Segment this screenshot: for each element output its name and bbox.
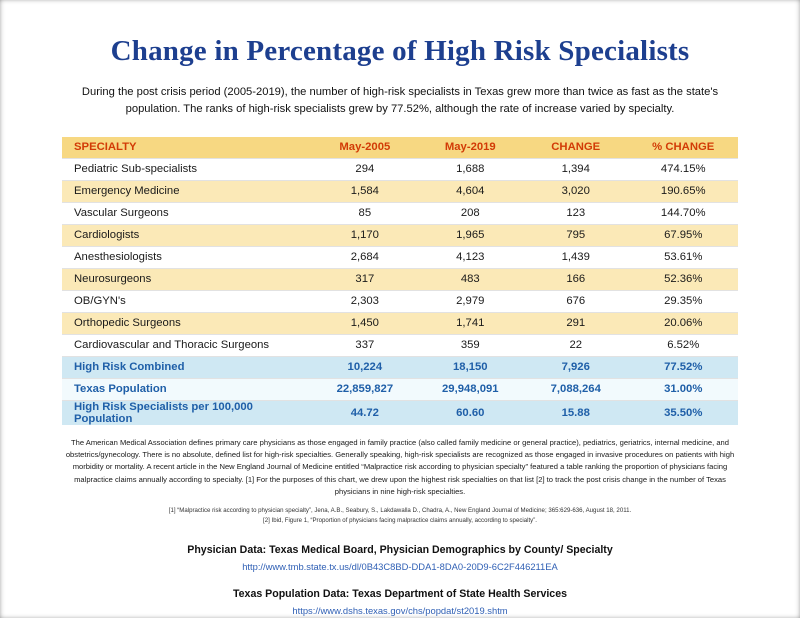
data-table-container: SPECIALTY May-2005 May-2019 CHANGE % CHA…: [62, 137, 738, 425]
page-title: Change in Percentage of High Risk Specia…: [18, 0, 782, 68]
cell-may-2005: 2,303: [312, 290, 417, 312]
table-header: SPECIALTY May-2005 May-2019 CHANGE % CHA…: [62, 137, 738, 159]
cell-specialty: Cardiologists: [62, 224, 312, 246]
cell-change: 3,020: [523, 180, 628, 202]
cell-may-2005: 317: [312, 268, 417, 290]
table-summary-row: Texas Population 22,859,827 29,948,091 7…: [62, 378, 738, 400]
source-link[interactable]: http://www.tmb.state.tx.us/dl/0B43C8BD-D…: [62, 560, 738, 574]
table-row: Pediatric Sub-specialists 294 1,688 1,39…: [62, 158, 738, 180]
cell-specialty: High Risk Combined: [62, 356, 312, 378]
column-header-change: CHANGE: [523, 137, 628, 159]
cell-may-2005: 10,224: [312, 356, 417, 378]
cell-specialty: OB/GYN's: [62, 290, 312, 312]
table-row: Cardiologists 1,170 1,965 795 67.95%: [62, 224, 738, 246]
cell-pct-change: 67.95%: [628, 224, 738, 246]
column-header-pct-change: % CHANGE: [628, 137, 738, 159]
cell-change: 676: [523, 290, 628, 312]
cell-change: 22: [523, 334, 628, 356]
source-label: Texas Population Data: Texas Department …: [62, 587, 738, 603]
table-summary-row: High Risk Specialists per 100,000 Popula…: [62, 400, 738, 425]
cell-specialty: Emergency Medicine: [62, 180, 312, 202]
cell-pct-change: 53.61%: [628, 246, 738, 268]
specialists-table: SPECIALTY May-2005 May-2019 CHANGE % CHA…: [62, 137, 738, 425]
cell-pct-change: 20.06%: [628, 312, 738, 334]
cell-may-2005: 1,170: [312, 224, 417, 246]
cell-may-2019: 1,688: [418, 158, 523, 180]
source-physician-data: Physician Data: Texas Medical Board, Phy…: [62, 543, 738, 574]
citation-2: [2] Ibid, Figure 1, “Proportion of physi…: [62, 516, 738, 526]
cell-may-2005: 2,684: [312, 246, 417, 268]
cell-pct-change: 6.52%: [628, 334, 738, 356]
cell-pct-change: 52.36%: [628, 268, 738, 290]
cell-may-2019: 29,948,091: [418, 378, 523, 400]
column-header-specialty: SPECIALTY: [62, 137, 312, 159]
cell-specialty: Vascular Surgeons: [62, 202, 312, 224]
cell-may-2019: 1,965: [418, 224, 523, 246]
cell-may-2019: 4,604: [418, 180, 523, 202]
table-summary-row: High Risk Combined 10,224 18,150 7,926 7…: [62, 356, 738, 378]
cell-may-2019: 483: [418, 268, 523, 290]
sources-block: Physician Data: Texas Medical Board, Phy…: [62, 543, 738, 618]
cell-may-2019: 4,123: [418, 246, 523, 268]
cell-specialty: Neurosurgeons: [62, 268, 312, 290]
cell-may-2005: 294: [312, 158, 417, 180]
cell-pct-change: 29.35%: [628, 290, 738, 312]
column-header-may-2019: May-2019: [418, 137, 523, 159]
cell-change: 166: [523, 268, 628, 290]
table-row: Orthopedic Surgeons 1,450 1,741 291 20.0…: [62, 312, 738, 334]
cell-specialty: Cardiovascular and Thoracic Surgeons: [62, 334, 312, 356]
cell-may-2019: 18,150: [418, 356, 523, 378]
cell-specialty: Texas Population: [62, 378, 312, 400]
cell-change: 1,439: [523, 246, 628, 268]
cell-may-2005: 1,450: [312, 312, 417, 334]
cell-change: 291: [523, 312, 628, 334]
cell-pct-change: 77.52%: [628, 356, 738, 378]
cell-may-2019: 1,741: [418, 312, 523, 334]
cell-pct-change: 35.50%: [628, 400, 738, 425]
cell-change: 123: [523, 202, 628, 224]
cell-change: 1,394: [523, 158, 628, 180]
cell-may-2005: 44.72: [312, 400, 417, 425]
cell-change: 7,088,264: [523, 378, 628, 400]
table-row: Neurosurgeons 317 483 166 52.36%: [62, 268, 738, 290]
cell-specialty: Anesthesiologists: [62, 246, 312, 268]
table-row: Emergency Medicine 1,584 4,604 3,020 190…: [62, 180, 738, 202]
source-label: Physician Data: Texas Medical Board, Phy…: [62, 543, 738, 559]
table-row: Anesthesiologists 2,684 4,123 1,439 53.6…: [62, 246, 738, 268]
cell-change: 15.88: [523, 400, 628, 425]
cell-may-2005: 337: [312, 334, 417, 356]
page-subtitle: During the post crisis period (2005-2019…: [64, 84, 736, 119]
table-row: Vascular Surgeons 85 208 123 144.70%: [62, 202, 738, 224]
cell-may-2005: 1,584: [312, 180, 417, 202]
cell-pct-change: 474.15%: [628, 158, 738, 180]
cell-specialty: High Risk Specialists per 100,000 Popula…: [62, 400, 312, 425]
source-population-data: Texas Population Data: Texas Department …: [62, 587, 738, 618]
citations-block: [1] “Malpractice risk according to physi…: [62, 506, 738, 526]
cell-pct-change: 144.70%: [628, 202, 738, 224]
cell-may-2019: 2,979: [418, 290, 523, 312]
table-body: Pediatric Sub-specialists 294 1,688 1,39…: [62, 158, 738, 425]
cell-pct-change: 190.65%: [628, 180, 738, 202]
cell-may-2019: 359: [418, 334, 523, 356]
cell-may-2005: 85: [312, 202, 417, 224]
cell-may-2005: 22,859,827: [312, 378, 417, 400]
table-row: OB/GYN's 2,303 2,979 676 29.35%: [62, 290, 738, 312]
cell-may-2019: 208: [418, 202, 523, 224]
cell-change: 7,926: [523, 356, 628, 378]
source-link[interactable]: https://www.dshs.texas.gov/chs/popdat/st…: [62, 604, 738, 618]
cell-specialty: Orthopedic Surgeons: [62, 312, 312, 334]
infographic-page: Change in Percentage of High Risk Specia…: [0, 0, 800, 618]
citation-1: [1] “Malpractice risk according to physi…: [62, 506, 738, 516]
table-header-row: SPECIALTY May-2005 May-2019 CHANGE % CHA…: [62, 137, 738, 159]
cell-change: 795: [523, 224, 628, 246]
cell-may-2019: 60.60: [418, 400, 523, 425]
footnote-paragraph: The American Medical Association defines…: [62, 437, 738, 498]
cell-specialty: Pediatric Sub-specialists: [62, 158, 312, 180]
cell-pct-change: 31.00%: [628, 378, 738, 400]
table-row: Cardiovascular and Thoracic Surgeons 337…: [62, 334, 738, 356]
column-header-may-2005: May-2005: [312, 137, 417, 159]
